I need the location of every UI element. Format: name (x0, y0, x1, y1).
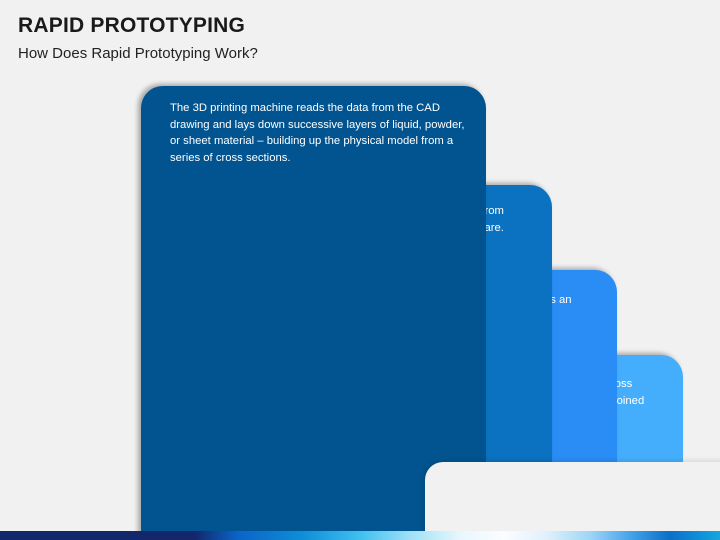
slide-canvas: RAPID PROTOTYPING How Does Rapid Prototy… (0, 0, 720, 540)
page-subtitle: How Does Rapid Prototyping Work? (18, 45, 618, 63)
slide-header: RAPID PROTOTYPING How Does Rapid Prototy… (18, 14, 618, 63)
step-box-1-text: The 3D printing machine reads the data f… (170, 100, 470, 166)
page-title: RAPID PROTOTYPING (18, 14, 618, 38)
bottom-right-notch (425, 462, 720, 532)
bottom-gradient-bar (0, 531, 720, 540)
